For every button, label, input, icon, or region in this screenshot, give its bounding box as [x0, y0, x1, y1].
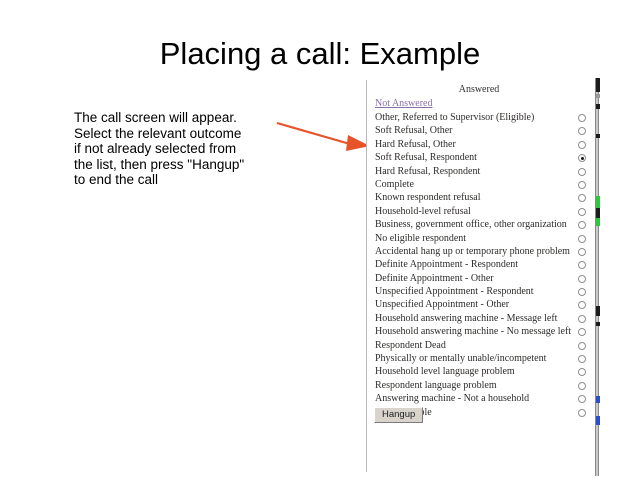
outcome-label: Unspecified Appointment - Other	[375, 299, 509, 311]
pointer-arrow-icon	[276, 118, 372, 160]
outcome-radio-button[interactable]	[578, 154, 586, 162]
outcome-label: Respondent language problem	[375, 380, 497, 392]
outcome-row[interactable]: Respondent language problem	[367, 380, 601, 393]
outcome-radio-button[interactable]	[578, 114, 586, 122]
outcome-row[interactable]: Unspecified Appointment - Other	[367, 299, 601, 312]
instruction-caption: The call screen will appear. Select the …	[74, 110, 284, 188]
outcome-radio-button[interactable]	[578, 315, 586, 323]
call-screen-window: Answered Not Answered Other, Referred to…	[366, 80, 600, 472]
outcome-radio-button[interactable]	[578, 261, 586, 269]
outcome-radio-button[interactable]	[578, 395, 586, 403]
caption-line-4: the list, then press "Hangup"	[74, 157, 284, 173]
scrollbar-mark	[596, 78, 600, 92]
outcome-label: Soft Refusal, Respondent	[375, 152, 477, 164]
outcome-row[interactable]: Accidental hang up or temporary phone pr…	[367, 246, 601, 259]
outcome-radio-button[interactable]	[578, 208, 586, 216]
outcome-radio-button[interactable]	[578, 328, 586, 336]
scrollbar-mark	[596, 416, 600, 425]
outcome-label: Known respondent refusal	[375, 192, 481, 204]
outcome-label: Answering machine - Not a household	[375, 393, 529, 405]
outcome-radio-button[interactable]	[578, 235, 586, 243]
caption-line-5: to end the call	[74, 172, 284, 188]
outcome-label: Hard Refusal, Respondent	[375, 166, 480, 178]
scrollbar-mark	[596, 322, 600, 326]
outcome-row[interactable]: Unspecified Appointment - Respondent	[367, 286, 601, 299]
outcome-radio-button[interactable]	[578, 221, 586, 229]
outcome-radio-button[interactable]	[578, 141, 586, 149]
outcome-row[interactable]: Definite Appointment - Other	[367, 273, 601, 286]
answered-section-header: Answered	[367, 84, 591, 95]
outcome-radio-button[interactable]	[578, 368, 586, 376]
outcome-label: Hard Refusal, Other	[375, 139, 456, 151]
outcome-label: Complete	[375, 179, 414, 191]
outcome-radio-button[interactable]	[578, 288, 586, 296]
outcome-row[interactable]: Definite Appointment - Respondent	[367, 259, 601, 272]
outcome-label: No eligible respondent	[375, 233, 466, 245]
outcome-label: Household answering machine - No message…	[375, 326, 571, 338]
outcome-row[interactable]: No eligible respondent	[367, 233, 601, 246]
outcome-radio-button[interactable]	[578, 127, 586, 135]
outcome-label: Definite Appointment - Other	[375, 273, 494, 285]
scrollbar-mark	[596, 306, 600, 316]
outcome-row[interactable]: Other, Referred to Supervisor (Eligible)	[367, 112, 601, 125]
outcome-label: Respondent Dead	[375, 340, 446, 352]
outcome-row[interactable]: Physically or mentally unable/incompeten…	[367, 353, 601, 366]
caption-line-2: Select the relevant outcome	[74, 126, 284, 142]
outcome-row[interactable]: Complete	[367, 179, 601, 192]
outcome-row[interactable]: Business, government office, other organ…	[367, 219, 601, 232]
outcome-label: Other, Referred to Supervisor (Eligible)	[375, 112, 534, 124]
outcome-label: Household answering machine - Message le…	[375, 313, 557, 325]
outcome-row[interactable]: Respondent Dead	[367, 340, 601, 353]
outcome-row[interactable]: Household answering machine - Message le…	[367, 313, 601, 326]
outcome-row[interactable]: Answering machine - Not a household	[367, 393, 601, 406]
outcome-radio-button[interactable]	[578, 275, 586, 283]
scrollbar-mark	[596, 104, 600, 109]
caption-line-3: if not already selected from	[74, 141, 284, 157]
outcome-radio-list: Other, Referred to Supervisor (Eligible)…	[367, 112, 601, 420]
outcome-label: Household level language problem	[375, 366, 515, 378]
scrollbar-mark	[596, 396, 600, 403]
scrollbar-mark	[596, 94, 600, 98]
outcome-radio-button[interactable]	[578, 194, 586, 202]
scrollbar-mark	[596, 208, 600, 218]
outcome-label: Definite Appointment - Respondent	[375, 259, 518, 271]
outcome-label: Household-level refusal	[375, 206, 471, 218]
outcome-row[interactable]: Household-level refusal	[367, 206, 601, 219]
outcome-radio-button[interactable]	[578, 342, 586, 350]
outcome-label: Business, government office, other organ…	[375, 219, 567, 231]
outcome-label: Physically or mentally unable/incompeten…	[375, 353, 546, 365]
page-title: Placing a call: Example	[0, 36, 640, 72]
outcome-row[interactable]: Household level language problem	[367, 366, 601, 379]
outcome-radio-button[interactable]	[578, 248, 586, 256]
outcome-radio-button[interactable]	[578, 355, 586, 363]
window-scrollbar[interactable]	[595, 78, 599, 476]
outcome-row[interactable]: Known respondent refusal	[367, 192, 601, 205]
outcome-radio-button[interactable]	[578, 301, 586, 309]
scrollbar-mark	[596, 134, 600, 138]
outcome-radio-button[interactable]	[578, 168, 586, 176]
outcome-radio-button[interactable]	[578, 409, 586, 417]
outcome-row[interactable]: Household answering machine - No message…	[367, 326, 601, 339]
hangup-button[interactable]: Hangup	[374, 407, 423, 423]
outcome-radio-button[interactable]	[578, 382, 586, 390]
outcome-row[interactable]: Hard Refusal, Respondent	[367, 166, 601, 179]
caption-line-1: The call screen will appear.	[74, 110, 284, 126]
outcome-radio-button[interactable]	[578, 181, 586, 189]
outcome-label: Soft Refusal, Other	[375, 125, 453, 137]
outcome-row[interactable]: Hard Refusal, Other	[367, 139, 601, 152]
scrollbar-mark	[596, 196, 600, 208]
outcome-row[interactable]: Soft Refusal, Respondent	[367, 152, 601, 165]
outcome-row[interactable]: Soft Refusal, Other	[367, 125, 601, 138]
outcome-label: Unspecified Appointment - Respondent	[375, 286, 534, 298]
scrollbar-mark	[596, 218, 600, 226]
not-answered-link[interactable]: Not Answered	[375, 98, 433, 109]
outcome-label: Accidental hang up or temporary phone pr…	[375, 246, 570, 258]
